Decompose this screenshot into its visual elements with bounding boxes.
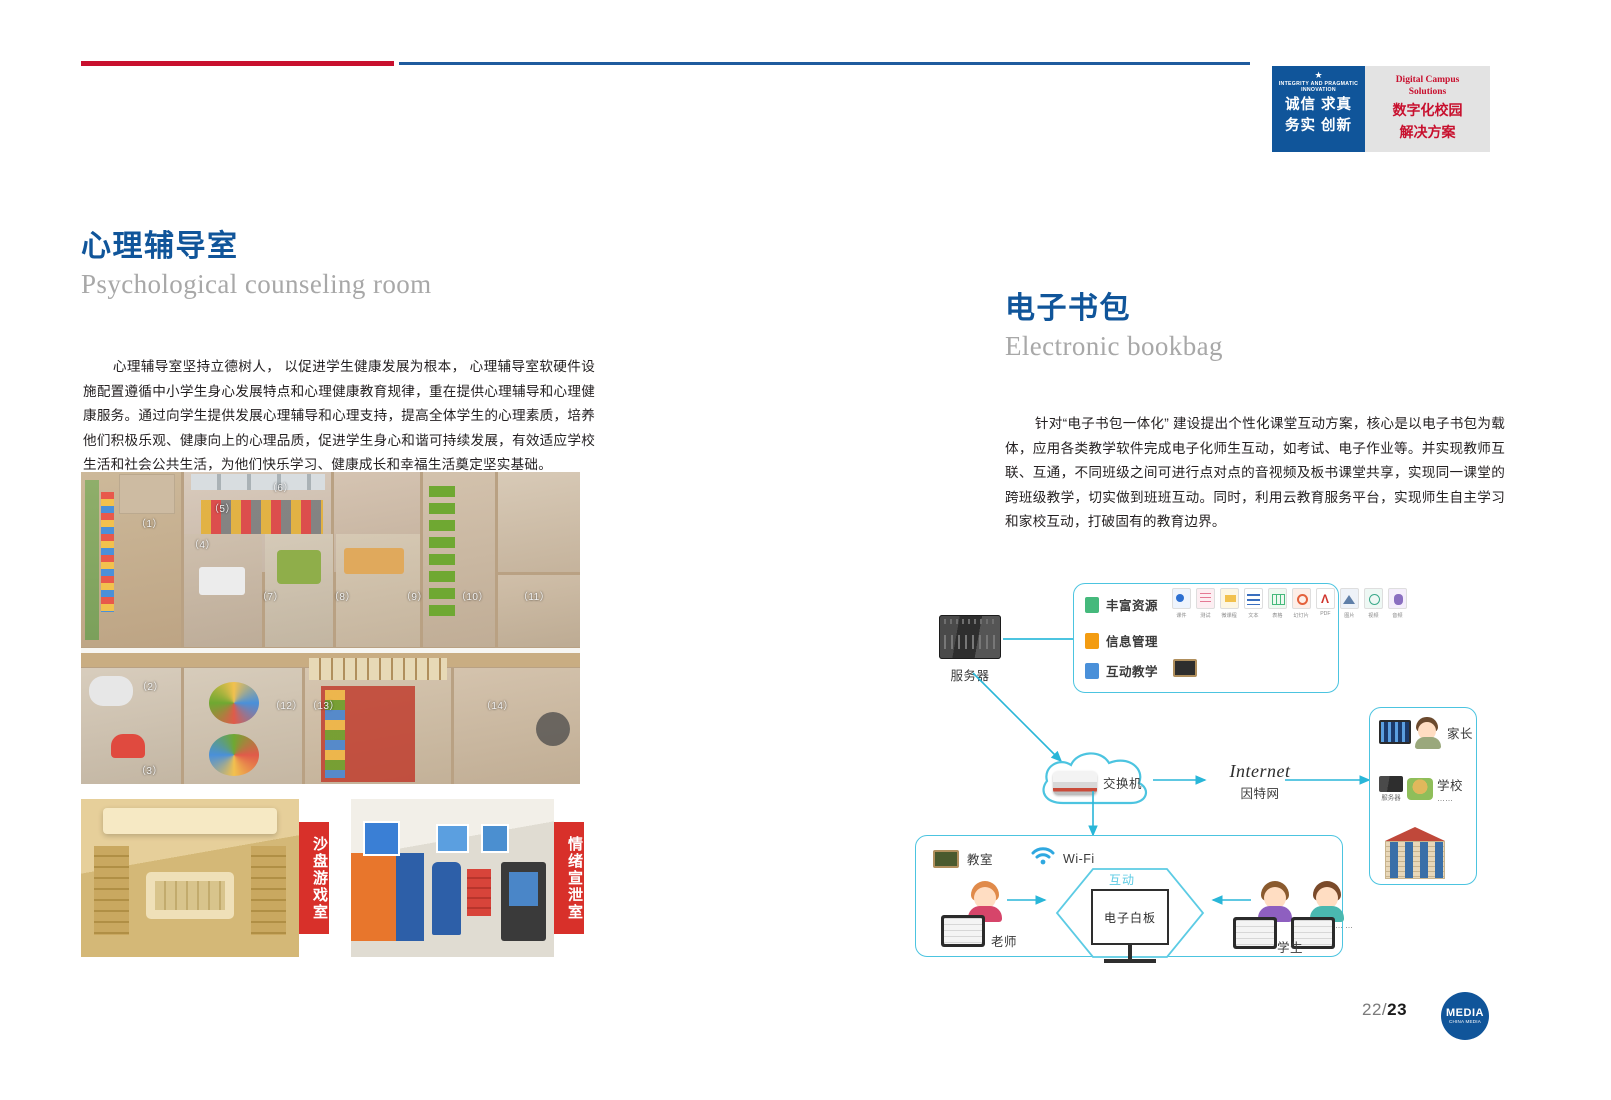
floorplan-round-table-12b	[209, 734, 259, 776]
floorplan-fixture-2	[89, 676, 133, 706]
school-server-caption: 服务器	[1381, 793, 1400, 802]
file-icon-video: 视频	[1363, 588, 1384, 619]
arrow-teacher-to-board	[1007, 893, 1055, 907]
badge-motto-panel: ★ INTEGRITY AND PRAGMATIC INNOVATION 诚信 …	[1272, 66, 1365, 152]
file-icon-text-label: 文本	[1248, 611, 1258, 619]
file-icon-slides-label: 幻灯片	[1294, 611, 1309, 619]
student-avatar-2	[1309, 881, 1345, 921]
right-body-paragraph: 针对“电子书包一体化” 建设提出个性化课堂互动方案，核心是以电子书包为载体，应用…	[1005, 412, 1505, 535]
endpoint-building	[1385, 827, 1445, 879]
floorplan-room-11	[498, 575, 580, 647]
network-diagram: 服务器 丰富资源 课件 测试 微课程 文本	[905, 575, 1485, 965]
right-title-chinese: 电子书包	[1005, 290, 1505, 328]
teaching-icon	[1085, 663, 1099, 679]
solutions-english-line2: Solutions	[1409, 86, 1447, 98]
floorplan-label-14: （14）	[481, 697, 514, 712]
campus-icon	[1407, 778, 1433, 800]
resources-icon	[1085, 597, 1099, 613]
file-icon-test: 测试	[1195, 588, 1216, 619]
floorplan-label-12: （12）	[270, 697, 303, 712]
floorplan-label-11: （11）	[518, 588, 550, 603]
floorplan-label-6: （6）	[267, 479, 294, 494]
platform-row-resources: 丰富资源	[1085, 595, 1158, 614]
floorplan-wall-art-1	[85, 480, 99, 640]
floorplan-cabinets-13	[309, 658, 447, 680]
file-icon-audio-label: 音频	[1392, 611, 1402, 619]
badge-motto-line1: 诚信 求真	[1285, 96, 1352, 115]
photo-sandplay-room	[81, 799, 299, 957]
floorplan-label-1: （1）	[136, 515, 163, 530]
left-body-paragraph: 心理辅导室坚持立德树人， 以促进学生健康发展为根本， 心理辅导室软硬件设施配置遵…	[83, 355, 595, 478]
floorplan-sofa-7	[277, 550, 321, 584]
student-label: 学生	[1277, 937, 1303, 956]
file-icon-microcourse: 微课程	[1219, 588, 1240, 619]
file-type-icons: 课件 测试 微课程 文本 表格 幻灯片 Λ	[1171, 588, 1408, 619]
floorplan-label-4: （4）	[189, 536, 216, 551]
floorplan-label-2: （2）	[137, 678, 164, 693]
header-rule-red	[81, 61, 394, 66]
platform-row-resources-label: 丰富资源	[1106, 595, 1158, 614]
line-server-to-platform	[1003, 638, 1073, 640]
media-logo-line2: CHINA MEDIA	[1449, 1019, 1481, 1025]
platform-row-teaching: 互动教学	[1085, 661, 1158, 680]
floorplan-furniture-1	[119, 474, 175, 514]
floorplan-chairs-1	[101, 492, 114, 612]
solutions-chinese-line2: 解决方案	[1400, 123, 1456, 142]
floorplan-label-9: （9）	[401, 588, 428, 603]
file-icon-pdf-label: PDF	[1320, 611, 1330, 617]
server-icon	[939, 615, 1001, 659]
wifi-label: Wi-Fi	[1063, 852, 1095, 866]
floorplan-label-3: （3）	[136, 762, 163, 777]
header-badge: ★ INTEGRITY AND PRAGMATIC INNOVATION 诚信 …	[1272, 66, 1490, 152]
photo-sandplay-label: 沙盘游戏室	[299, 822, 329, 934]
badge-motto-line2: 务实 创新	[1285, 117, 1352, 136]
floorplan-equipment-14	[536, 712, 570, 746]
floorplan-label-7: （7）	[257, 588, 284, 603]
solutions-english-line1: Digital Campus	[1396, 74, 1460, 86]
endpoint-parent-label: 家长	[1447, 723, 1473, 742]
media-logo-line1: MEDIA	[1446, 1007, 1484, 1019]
blackboard-small-icon	[933, 850, 959, 868]
page-number: 22/23	[1362, 1000, 1407, 1020]
information-icon	[1085, 633, 1099, 649]
whiteboard-stand	[1128, 945, 1132, 959]
badge-solutions-panel: Digital Campus Solutions 数字化校园 解决方案	[1365, 66, 1490, 152]
teacher-tablet-icon	[941, 915, 985, 947]
left-title-chinese: 心理辅导室	[81, 228, 597, 266]
file-icon-video-label: 视频	[1368, 611, 1378, 619]
floorplan-image: （1） （5） （6） （4） （7） （8） （9） （10） （11）	[81, 472, 580, 784]
platform-row-teaching-label: 互动教学	[1106, 661, 1158, 680]
floorplan-desk-8	[344, 548, 404, 574]
parent-avatar	[1415, 717, 1441, 747]
file-icon-courseware: 课件	[1171, 588, 1192, 619]
blackboard-icon	[1173, 659, 1197, 677]
header-rule-blue	[399, 62, 1250, 65]
file-icon-image-label: 图片	[1344, 611, 1354, 619]
school-server-icon	[1379, 776, 1403, 792]
left-title-english: Psychological counseling room	[81, 266, 597, 302]
endpoint-parent: 家长	[1379, 717, 1473, 747]
photo-venting-room	[351, 799, 554, 957]
file-icon-pdf: Λ PDF	[1315, 588, 1336, 619]
floorplan-windows-5	[191, 474, 325, 490]
floorplan-label-10: （10）	[456, 588, 489, 603]
teacher-label: 老师	[991, 931, 1017, 950]
solutions-chinese-line1: 数字化校园	[1393, 101, 1463, 120]
endpoint-school-ellipsis: ……	[1437, 794, 1463, 803]
file-icon-microcourse-label: 微课程	[1222, 611, 1237, 619]
wifi-icon	[1031, 847, 1055, 870]
file-icon-table: 表格	[1267, 588, 1288, 619]
building-body-icon	[1385, 841, 1445, 879]
student-tablet-1-icon	[1233, 917, 1277, 949]
interaction-label: 互动	[1109, 871, 1135, 888]
file-icon-test-label: 测试	[1200, 611, 1210, 619]
internet-label-cn: 因特网	[1210, 783, 1310, 802]
classroom-label: 教室	[967, 849, 993, 868]
floorplan-label-8: （8）	[329, 588, 356, 603]
whiteboard-base	[1104, 959, 1156, 963]
floorplan-room-10	[498, 472, 580, 572]
floorplan-table-4	[199, 567, 245, 595]
file-icon-table-label: 表格	[1272, 611, 1282, 619]
student-avatar-1	[1257, 881, 1293, 921]
platform-row-information-label: 信息管理	[1106, 631, 1158, 650]
whiteboard-screen: 电子白板	[1091, 889, 1169, 945]
whiteboard-group: 电子白板	[1091, 889, 1169, 963]
badge-english-motto: INTEGRITY AND PRAGMATIC INNOVATION	[1276, 81, 1362, 94]
file-icon-text: 文本	[1243, 588, 1264, 619]
floorplan-label-13: （13）	[307, 697, 340, 712]
file-icon-image: 图片	[1339, 588, 1360, 619]
switch-label: 交换机	[1103, 773, 1142, 792]
floorplan-round-table-12a	[209, 682, 259, 724]
brochure-page: ★ INTEGRITY AND PRAGMATIC INNOVATION 诚信 …	[0, 0, 1611, 1100]
students-ellipsis: ……	[1335, 921, 1355, 930]
left-section-heading: 心理辅导室 Psychological counseling room	[81, 228, 597, 302]
arrow-students-to-board	[1205, 893, 1253, 907]
endpoint-school: 服务器 学校 ……	[1379, 775, 1463, 803]
star-icon: ★	[1314, 71, 1322, 80]
page-total: 23	[1387, 1000, 1407, 1019]
right-title-english: Electronic bookbag	[1005, 328, 1505, 364]
floorplan-beanbag-3	[111, 734, 145, 758]
page-current: 22	[1362, 1000, 1382, 1019]
endpoint-school-label: 学校	[1437, 775, 1463, 794]
parent-screen-icon	[1379, 720, 1411, 744]
internet-group: Internet 因特网	[1210, 761, 1310, 802]
file-icon-slides: 幻灯片	[1291, 588, 1312, 619]
floorplan-chairs-9	[429, 486, 455, 616]
file-icon-courseware-label: 课件	[1176, 611, 1186, 619]
internet-label-en: Internet	[1210, 761, 1310, 782]
photo-venting-label: 情绪宣泄室	[554, 822, 584, 934]
floorplan-label-5: （5）	[209, 500, 236, 515]
media-logo: MEDIA CHINA MEDIA	[1441, 992, 1489, 1040]
right-section-heading: 电子书包 Electronic bookbag	[1005, 290, 1505, 364]
building-roof-icon	[1385, 827, 1445, 841]
platform-row-information: 信息管理	[1085, 631, 1158, 650]
file-icon-audio: 音频	[1387, 588, 1408, 619]
